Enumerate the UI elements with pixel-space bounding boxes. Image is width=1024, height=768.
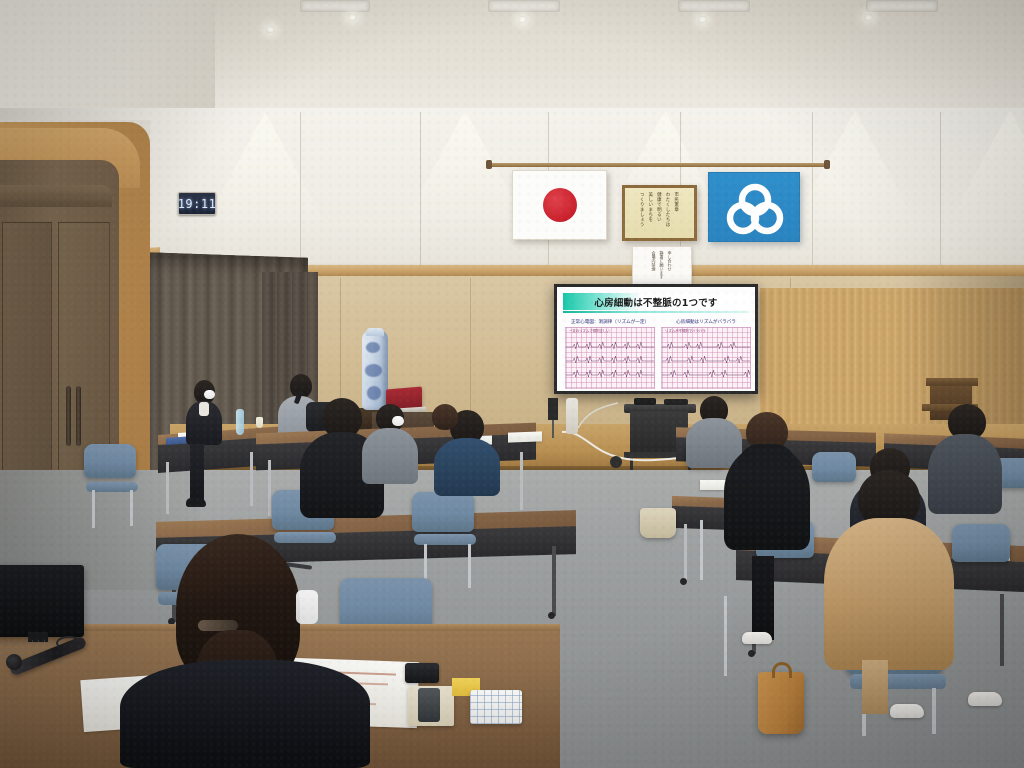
hinomaru-disc bbox=[543, 188, 577, 222]
projection-screen: 心房細動は不整脈の1つです 正常心電図：洞調律（リズムが一定） ー定のリズムで規… bbox=[554, 284, 758, 394]
ecg-right-paper: リズムが不規則でバラバラ bbox=[661, 327, 751, 389]
person-legs bbox=[862, 660, 888, 714]
flag-rail-cap bbox=[824, 160, 830, 169]
plaque-line: 市民憲章 bbox=[674, 192, 680, 212]
notice-line: 申し合わせ bbox=[668, 251, 673, 271]
face-mask bbox=[296, 590, 318, 624]
ceiling-downlight bbox=[864, 14, 873, 21]
ceiling-downlight bbox=[698, 16, 707, 23]
leather-handbag-on-floor bbox=[758, 672, 804, 734]
chair-leg bbox=[468, 544, 471, 588]
smartphone-secondary[interactable] bbox=[418, 688, 440, 722]
av-device bbox=[634, 398, 656, 405]
ecg-left-heading: 正常心電図：洞調律（リズムが一定） bbox=[565, 319, 655, 325]
ecg-trace bbox=[566, 368, 654, 378]
framed-plaque: 市民憲章 わたくしたちは 健康で明るい 美しいまちを つくりましょう bbox=[622, 185, 697, 241]
ecg-left-subnote: ー定のリズムで規則正しい bbox=[569, 328, 654, 333]
table-leg bbox=[552, 546, 556, 616]
seminar-room-photo: 市民憲章 わたくしたちは 健康で明るい 美しいまちを つくりましょう 申し合わせ… bbox=[0, 0, 1024, 768]
person-torso bbox=[120, 660, 370, 768]
clock-time-text: 19:11 bbox=[178, 197, 217, 211]
person-staff-left bbox=[182, 380, 224, 450]
table-caster bbox=[548, 612, 555, 619]
chair[interactable] bbox=[412, 492, 474, 532]
person-foreground-woman bbox=[120, 534, 370, 768]
plaque-line: 美しいまちを bbox=[648, 192, 654, 222]
shoe bbox=[968, 692, 1002, 706]
tote-bag-on-floor bbox=[640, 508, 676, 538]
computer-monitor[interactable] bbox=[0, 565, 84, 637]
wall-digital-clock: 19:11 bbox=[178, 192, 216, 215]
vase-neck bbox=[366, 328, 384, 336]
person-torso bbox=[434, 438, 500, 496]
table-caster bbox=[748, 650, 755, 657]
ceiling-vent bbox=[866, 0, 938, 12]
table-leg bbox=[268, 460, 271, 516]
shoe bbox=[186, 498, 206, 507]
ecg-trace bbox=[662, 340, 750, 350]
smartphone[interactable] bbox=[405, 663, 439, 683]
ecg-right-subnote: リズムが不規則でバラバラ bbox=[665, 328, 750, 333]
ecg-panel-afib: 心房細動はリズムがバラバラ リズムが不規則でバラバラ bbox=[661, 319, 751, 389]
shoe bbox=[890, 704, 924, 718]
door-handle[interactable] bbox=[66, 386, 71, 446]
printed-handout bbox=[508, 431, 542, 442]
door-handle[interactable] bbox=[76, 386, 81, 446]
face-mask bbox=[204, 390, 215, 399]
chair[interactable] bbox=[952, 524, 1010, 562]
ecg-left-paper: ー定のリズムで規則正しい bbox=[565, 327, 655, 389]
person-legs bbox=[190, 444, 204, 502]
chair-leg bbox=[932, 688, 936, 734]
chair-leg bbox=[700, 520, 703, 580]
notice-line: 静粛に願います bbox=[660, 251, 665, 279]
ceiling-downlight bbox=[266, 26, 275, 33]
chair[interactable] bbox=[84, 444, 136, 478]
presentation-slide: 心房細動は不整脈の1つです 正常心電図：洞調律（リズムが一定） ー定のリズムで規… bbox=[557, 287, 755, 391]
table-leg bbox=[520, 452, 523, 510]
staff-table-leg bbox=[166, 462, 169, 514]
shoe bbox=[742, 632, 772, 644]
flag-rail bbox=[488, 163, 828, 167]
ceiling-downlight bbox=[348, 14, 357, 21]
vase-motif bbox=[366, 342, 380, 353]
flag-rail-cap bbox=[486, 160, 492, 169]
ecg-trace bbox=[566, 340, 654, 350]
person-attendee-blue bbox=[424, 404, 464, 444]
chair-leg bbox=[92, 490, 95, 528]
staff-table-leg bbox=[250, 452, 253, 506]
door-transom-panel bbox=[0, 185, 112, 207]
stage-side-object bbox=[566, 398, 578, 434]
av-device bbox=[664, 399, 688, 405]
wall-seam bbox=[300, 112, 301, 267]
hood bbox=[738, 444, 796, 470]
plaque-line: わたくしたちは bbox=[665, 192, 671, 227]
wall-seam bbox=[940, 112, 941, 267]
person-attendee-hoodie bbox=[724, 412, 810, 562]
slide-title-text: 心房細動は不整脈の1つです bbox=[594, 295, 717, 309]
table-leg bbox=[684, 524, 687, 580]
wall-seam bbox=[812, 112, 813, 267]
table-caster bbox=[680, 578, 687, 585]
ecg-trace bbox=[662, 368, 750, 378]
ceiling-downlight bbox=[518, 16, 527, 23]
slide-title-bar: 心房細動は不整脈の1つです bbox=[563, 293, 749, 310]
municipal-flag bbox=[708, 172, 800, 242]
floor-cable-secondary bbox=[576, 400, 620, 430]
table-leg bbox=[1000, 594, 1004, 666]
pa-speaker-stand bbox=[552, 420, 554, 438]
handbag-handle bbox=[772, 662, 792, 678]
chair-leg bbox=[130, 490, 133, 526]
handkerchief bbox=[470, 690, 522, 724]
notice-line: 会場内禁煙 bbox=[652, 251, 657, 271]
ecg-panel-normal: 正常心電図：洞調律（リズムが一定） ー定のリズムで規則正しい bbox=[565, 319, 655, 389]
water-bottle bbox=[236, 409, 244, 435]
plaque-line: 健康で明るい bbox=[657, 192, 663, 222]
ceiling-vent bbox=[678, 0, 750, 12]
person-legs bbox=[752, 556, 774, 640]
person-head bbox=[432, 404, 458, 430]
person-torso bbox=[362, 428, 418, 484]
mic-head bbox=[6, 654, 22, 670]
stage-shelf bbox=[926, 378, 978, 386]
pa-speaker bbox=[548, 398, 558, 420]
person-torso bbox=[824, 518, 954, 670]
person-collar bbox=[199, 402, 209, 416]
paper-cup bbox=[256, 417, 263, 428]
triquetra-emblem-icon bbox=[709, 173, 801, 243]
face-mask bbox=[392, 416, 404, 426]
ceiling-vent bbox=[300, 0, 370, 12]
person-attendee-camel bbox=[824, 470, 954, 670]
vase-motif bbox=[365, 364, 382, 377]
japanese-flag bbox=[512, 170, 607, 240]
ecg-trace bbox=[662, 354, 750, 364]
ceiling-vent bbox=[488, 0, 560, 12]
wall-seam bbox=[420, 112, 421, 267]
ecg-right-heading: 心房細動はリズムがバラバラ bbox=[661, 319, 751, 325]
cable-reel bbox=[610, 456, 622, 468]
plaque-line: つくりましょう bbox=[639, 192, 645, 227]
slide-title-underline bbox=[563, 311, 749, 313]
person-attendee-grey bbox=[362, 404, 418, 484]
ecg-trace bbox=[566, 354, 654, 364]
chair-leg bbox=[724, 596, 727, 676]
